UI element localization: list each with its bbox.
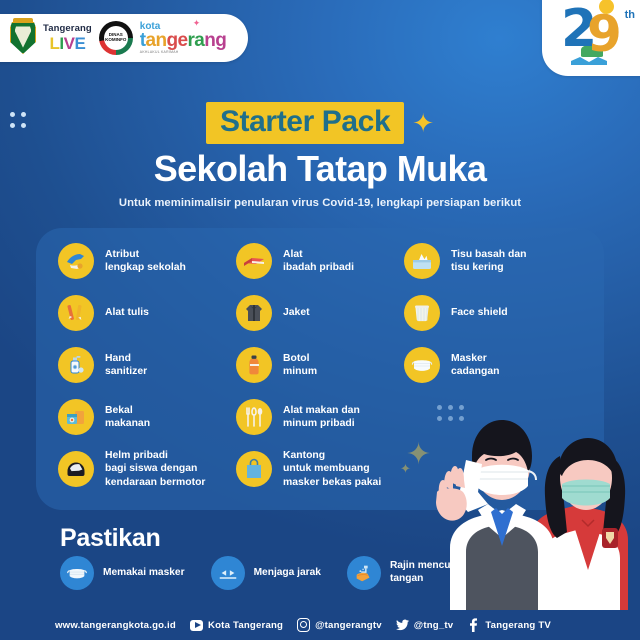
starter-pack-badge: Starter Pack — [206, 102, 404, 144]
kota-tagline: AKHLAKUL KARIMAH — [140, 51, 227, 54]
list-item[interactable]: Masker cadangan — [404, 340, 589, 390]
facebook-icon — [467, 619, 480, 632]
cutlery-icon — [236, 399, 272, 435]
logo-bar: Tangerang LIVE DINAS KOMINFO ✦ kota tang… — [0, 14, 248, 62]
list-item[interactable]: Alat ibadah pribadi — [236, 236, 406, 286]
list-item-label: Botol minum — [283, 352, 317, 379]
helmet-icon — [58, 451, 94, 487]
list-item[interactable]: Face shield — [404, 288, 589, 338]
kominfo-logo-icon: DINAS KOMINFO — [99, 21, 133, 55]
mask-icon — [60, 556, 94, 590]
tangerang-live-word: Tangerang — [43, 24, 92, 34]
anniversary-number-second: 9 — [587, 9, 622, 59]
list-item-label: Masker cadangan — [451, 352, 500, 379]
face-shield-icon — [404, 295, 440, 331]
list-item-label: Hand sanitizer — [105, 352, 147, 379]
list-item[interactable]: Alat tulis — [58, 288, 238, 338]
pastikan-item-mask[interactable]: Memakai masker — [60, 556, 185, 590]
footer-facebook[interactable]: Tangerang TV — [467, 619, 551, 632]
checklist-column-1: Atribut lengkap sekolah Alat tulis Hand … — [58, 236, 238, 496]
pastikan-item-label: Rajin mencuci tangan — [390, 560, 459, 586]
tangerang-live-live: LIVE — [43, 35, 92, 52]
checklist-column-2: Alat ibadah pribadi Jaket Botol minum — [236, 236, 406, 496]
pastikan-item-label: Menjaga jarak — [254, 567, 321, 580]
handwash-icon — [347, 556, 381, 590]
instagram-icon — [297, 619, 310, 632]
sparkle-icon-title: ✦ — [412, 110, 434, 136]
spare-mask-icon — [404, 347, 440, 383]
list-item[interactable]: Hand sanitizer — [58, 340, 238, 390]
checklist-panel: Atribut lengkap sekolah Alat tulis Hand … — [36, 228, 604, 510]
list-item[interactable]: Kantong untuk membuang masker bekas paka… — [236, 444, 406, 494]
tangerang-city-crest-icon — [10, 22, 36, 54]
list-item-label: Face shield — [451, 306, 508, 319]
shopping-bag-icon — [236, 451, 272, 487]
pastikan-item-handwash[interactable]: Rajin mencuci tangan — [347, 556, 459, 590]
prayer-tools-icon — [236, 243, 272, 279]
logo-sparkle-icon: ✦ — [193, 19, 201, 28]
list-item-label: Bekal makanan — [105, 404, 150, 431]
list-item[interactable]: Alat makan dan minum pribadi — [236, 392, 406, 442]
list-item-label: Atribut lengkap sekolah — [105, 248, 186, 275]
list-item-label: Jaket — [283, 306, 310, 319]
twitter-icon — [396, 619, 409, 632]
pastikan-item-label: Memakai masker — [103, 567, 185, 580]
page-subtitle: Untuk meminimalisir penularan virus Covi… — [0, 197, 640, 209]
list-item[interactable]: Jaket — [236, 288, 406, 338]
list-item-label: Alat tulis — [105, 306, 149, 319]
list-item-label: Helm pribadi bagi siswa dengan kendaraan… — [105, 449, 205, 489]
list-item-label: Alat ibadah pribadi — [283, 248, 354, 275]
footer-website[interactable]: www.tangerangkota.go.id — [55, 620, 176, 631]
list-item[interactable]: Tisu basah dan tisu kering — [404, 236, 589, 286]
list-item[interactable]: Atribut lengkap sekolah — [58, 236, 238, 286]
kota-tangerang-logo: ✦ kota tangerang AKHLAKUL KARIMAH — [140, 22, 227, 54]
distance-arrows-icon — [211, 556, 245, 590]
tissue-box-icon — [404, 243, 440, 279]
pastikan-item-distance[interactable]: Menjaga jarak — [211, 556, 321, 590]
stationery-icon — [58, 295, 94, 331]
hand-sanitizer-icon — [58, 347, 94, 383]
instagram-label: @tangerangtv — [315, 620, 382, 631]
twitter-label: @tng_tv — [414, 620, 454, 631]
list-item[interactable]: Helm pribadi bagi siswa dengan kendaraan… — [58, 444, 238, 494]
checklist-column-3: Tisu basah dan tisu kering Face shield M… — [404, 236, 589, 392]
page-title: Sekolah Tatap Muka — [0, 150, 640, 188]
website-label: www.tangerangkota.go.id — [55, 620, 176, 631]
list-item-label: Kantong untuk membuang masker bekas paka… — [283, 449, 381, 489]
list-item[interactable]: Botol minum — [236, 340, 406, 390]
lunch-box-icon — [58, 399, 94, 435]
school-attributes-icon — [58, 243, 94, 279]
footer-bar: www.tangerangkota.go.id Kota Tangerang @… — [0, 610, 640, 640]
facebook-label: Tangerang TV — [485, 620, 551, 631]
jacket-icon — [236, 295, 272, 331]
anniversary-suffix: th — [625, 9, 635, 21]
title-block: Starter Pack ✦ Sekolah Tatap Muka Untuk … — [0, 102, 640, 209]
water-bottle-icon — [236, 347, 272, 383]
anniversary-badge: 2 9 th — [542, 0, 640, 76]
kominfo-label: DINAS KOMINFO — [99, 21, 133, 55]
footer-twitter[interactable]: @tng_tv — [396, 619, 454, 632]
youtube-label: Kota Tangerang — [208, 620, 283, 631]
poster-canvas: Tangerang LIVE DINAS KOMINFO ✦ kota tang… — [0, 0, 640, 640]
tangerang-word: tangerang — [140, 31, 227, 50]
list-item-label: Tisu basah dan tisu kering — [451, 248, 526, 275]
footer-instagram[interactable]: @tangerangtv — [297, 619, 382, 632]
footer-youtube[interactable]: Kota Tangerang — [190, 619, 283, 632]
pastikan-row: Memakai masker Menjaga jarak Rajin mencu… — [60, 556, 485, 590]
list-item-label: Alat makan dan minum pribadi — [283, 404, 360, 431]
pastikan-title: Pastikan — [60, 524, 160, 553]
youtube-icon — [190, 619, 203, 632]
tangerang-live-logo: Tangerang LIVE — [43, 24, 92, 52]
list-item[interactable]: Bekal makanan — [58, 392, 238, 442]
